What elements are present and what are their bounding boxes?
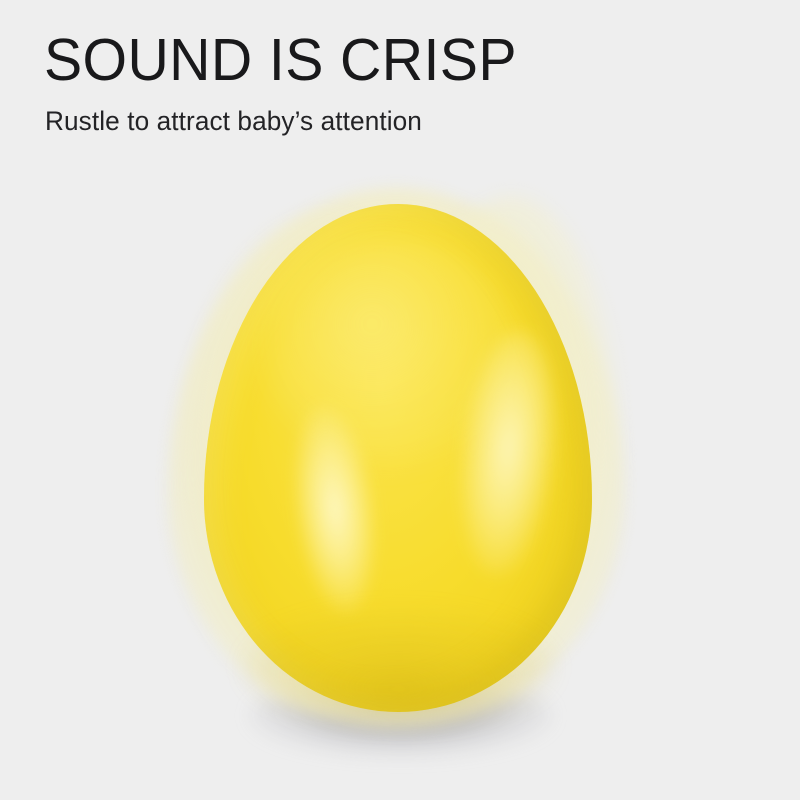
page-subtitle: Rustle to attract baby’s attention xyxy=(45,106,723,136)
rattle-base-shading xyxy=(246,612,552,720)
copy-block: SOUND IS CRISP Rustle to attract baby’s … xyxy=(44,28,744,136)
product-feature-image: SOUND IS CRISP Rustle to attract baby’s … xyxy=(0,0,800,800)
page-title: SOUND IS CRISP xyxy=(44,28,723,92)
